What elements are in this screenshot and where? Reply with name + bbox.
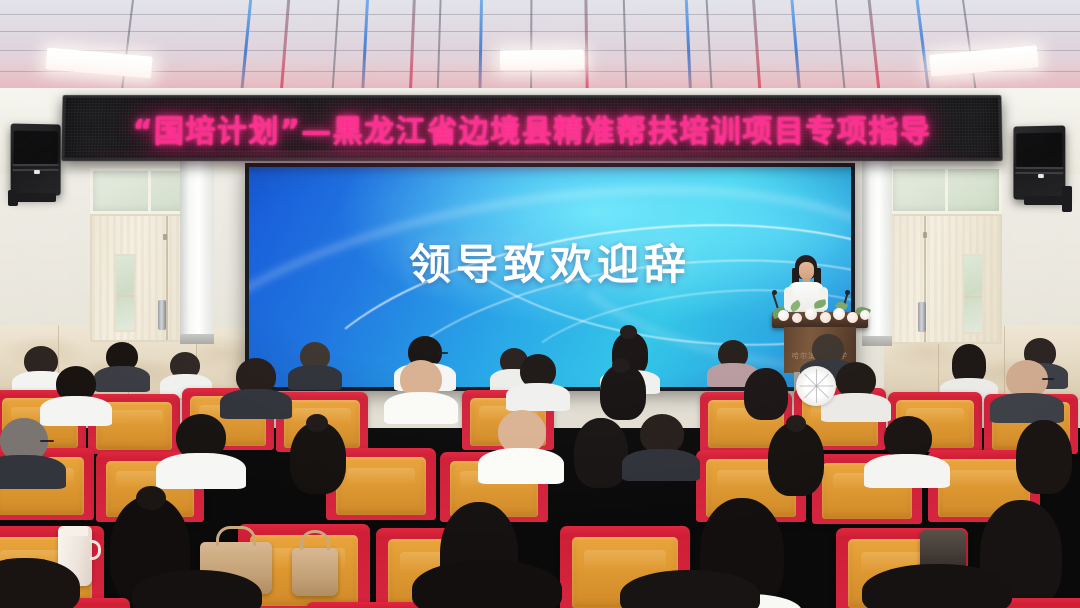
hall-door-right[interactable] [890,214,1002,344]
handbag-right [292,548,338,596]
handheld-fan [796,366,836,406]
door-handle-right[interactable] [918,302,926,332]
door-glass-left [114,254,136,332]
wall-speaker-left [11,123,61,196]
audience-seating [0,330,1080,608]
door-handle-left[interactable] [158,300,166,330]
pilaster-left [180,158,214,344]
transom-window-right [890,166,1002,214]
conference-hall-photo: 领导致欢迎辞 哈 [0,0,1080,608]
ceiling-light-left [45,47,153,78]
wall-speaker-right [1013,125,1065,200]
door-glass-right [962,254,984,334]
ceiling [0,0,1080,100]
led-banner: “国培计划”—黑龙江省边境县精准帮扶培训项目专项指导 [61,95,1002,161]
podium-flower-arrangement [768,298,874,328]
led-banner-text: “国培计划”—黑龙江省边境县精准帮扶培训项目专项指导 [132,106,931,150]
ceiling-light-center [500,50,584,71]
